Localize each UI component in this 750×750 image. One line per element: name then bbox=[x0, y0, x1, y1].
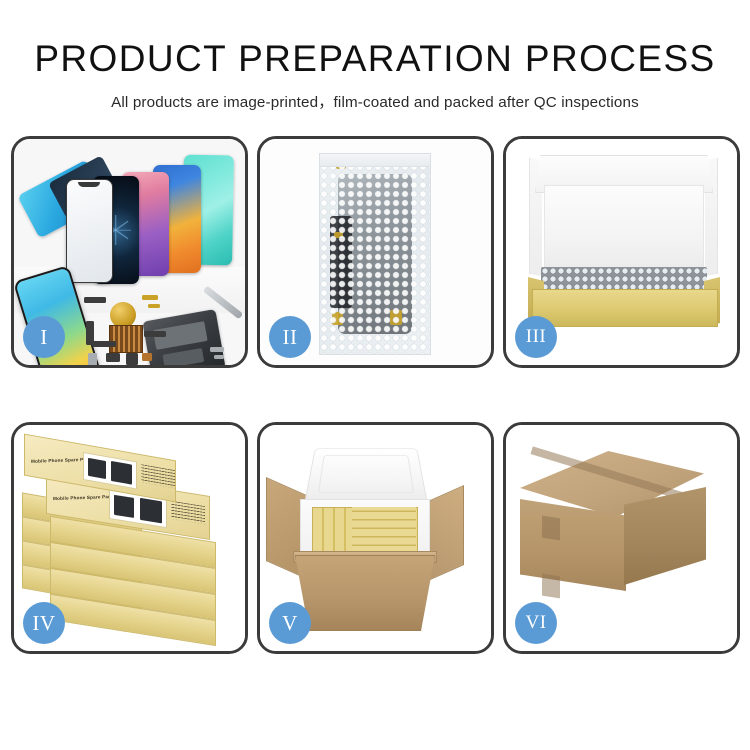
box-feature-lines-1 bbox=[141, 464, 175, 488]
foam-sheet-icon bbox=[544, 185, 704, 272]
bubble-texture-icon bbox=[320, 154, 430, 354]
spare-part-gold-flex-icon bbox=[142, 295, 158, 300]
process-step-panel-4[interactable]: Mobile Phone Spare Parts Mobile Phone Sp… bbox=[11, 422, 248, 654]
process-step-panel-1[interactable]: I bbox=[11, 136, 248, 368]
box-screen-img-2b bbox=[140, 498, 162, 523]
connector-grid-part-icon bbox=[109, 325, 143, 353]
process-step-panel-3[interactable]: III bbox=[503, 136, 740, 368]
process-step-panel-2[interactable]: II bbox=[257, 136, 494, 368]
spare-part-gold-tab-icon bbox=[148, 304, 160, 308]
spare-part-button-icon bbox=[88, 353, 97, 365]
spare-part-screw-small-icon bbox=[214, 355, 224, 359]
box-screen-img-2a bbox=[114, 495, 134, 518]
box-window-1 bbox=[83, 452, 137, 490]
process-step-panel-5[interactable]: V bbox=[257, 422, 494, 654]
bag-seal-icon bbox=[320, 154, 430, 167]
spare-part-copper-icon bbox=[142, 353, 152, 361]
process-steps-grid: I II bbox=[11, 136, 739, 654]
spare-part-camera-icon bbox=[126, 353, 138, 365]
carton-tape-upper-icon bbox=[542, 516, 560, 541]
carton-body-icon bbox=[295, 555, 435, 631]
spare-part-strip-icon bbox=[84, 297, 106, 303]
box-label-text-2: Mobile Phone Spare Parts bbox=[53, 494, 115, 501]
process-step-panel-6[interactable]: VI bbox=[503, 422, 740, 654]
packed-boxes-stack-icon bbox=[352, 507, 416, 553]
spare-part-bracket-icon bbox=[106, 353, 120, 362]
box-feature-lines-2 bbox=[171, 501, 205, 524]
bubble-wrap-bag-icon bbox=[319, 153, 431, 355]
spare-part-screw-icon bbox=[210, 347, 224, 352]
step-badge-5: V bbox=[269, 602, 311, 644]
box-front-panel-icon bbox=[532, 289, 718, 327]
page-header: PRODUCT PREPARATION PROCESS All products… bbox=[0, 0, 750, 112]
box-screen-img-1a bbox=[88, 458, 106, 479]
step-badge-3: III bbox=[515, 316, 557, 358]
step-badge-1: I bbox=[23, 316, 65, 358]
step-badge-4: IV bbox=[23, 602, 65, 644]
page-subtitle: All products are image-printed，film-coat… bbox=[0, 79, 750, 112]
spare-part-connector-icon bbox=[144, 331, 166, 337]
box-screen-img-1b bbox=[111, 461, 132, 485]
step-badge-2: II bbox=[269, 316, 311, 358]
carton-tape-lower-icon bbox=[542, 574, 560, 599]
page-title: PRODUCT PREPARATION PROCESS bbox=[0, 0, 750, 79]
step-badge-6: VI bbox=[515, 602, 557, 644]
spare-part-ribbon-icon bbox=[92, 341, 116, 347]
screen-protector-glass-icon bbox=[66, 179, 113, 283]
styrofoam-lid-icon bbox=[304, 448, 428, 502]
